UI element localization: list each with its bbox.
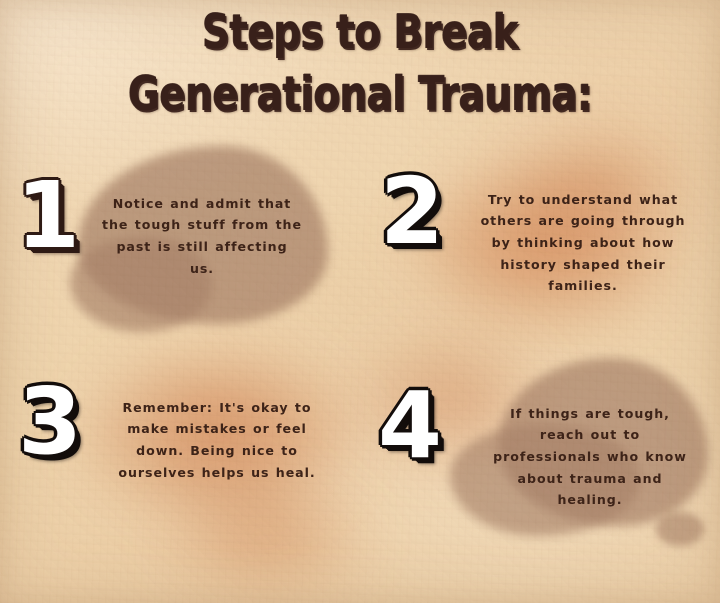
step-number-3: 3 xyxy=(18,376,82,468)
step-item-2: 2 Try to understand what others are goin… xyxy=(360,158,720,358)
title-line-2: Generational Trauma: xyxy=(11,70,709,120)
step-item-4: 4 If things are tough, reach out to prof… xyxy=(360,358,720,558)
step-item-3: 3 Remember: It's okay to make mistakes o… xyxy=(0,358,360,558)
page-title: Steps to Break Generational Trauma: xyxy=(0,4,720,113)
step-text-1: Notice and admit that the tough stuff fr… xyxy=(102,193,302,280)
step-text-4: If things are tough, reach out to profes… xyxy=(486,403,694,511)
step-number-2: 2 xyxy=(380,166,444,258)
title-line-1: Steps to Break xyxy=(11,8,709,58)
step-text-2: Try to understand what others are going … xyxy=(470,189,696,297)
infographic-poster: Steps to Break Generational Trauma: 1 No… xyxy=(0,0,720,603)
step-item-1: 1 Notice and admit that the tough stuff … xyxy=(0,158,360,358)
step-number-1: 1 xyxy=(16,170,80,262)
step-text-3: Remember: It's okay to make mistakes or … xyxy=(108,397,326,484)
steps-grid: 1 Notice and admit that the tough stuff … xyxy=(0,158,720,558)
step-number-4: 4 xyxy=(378,380,442,472)
